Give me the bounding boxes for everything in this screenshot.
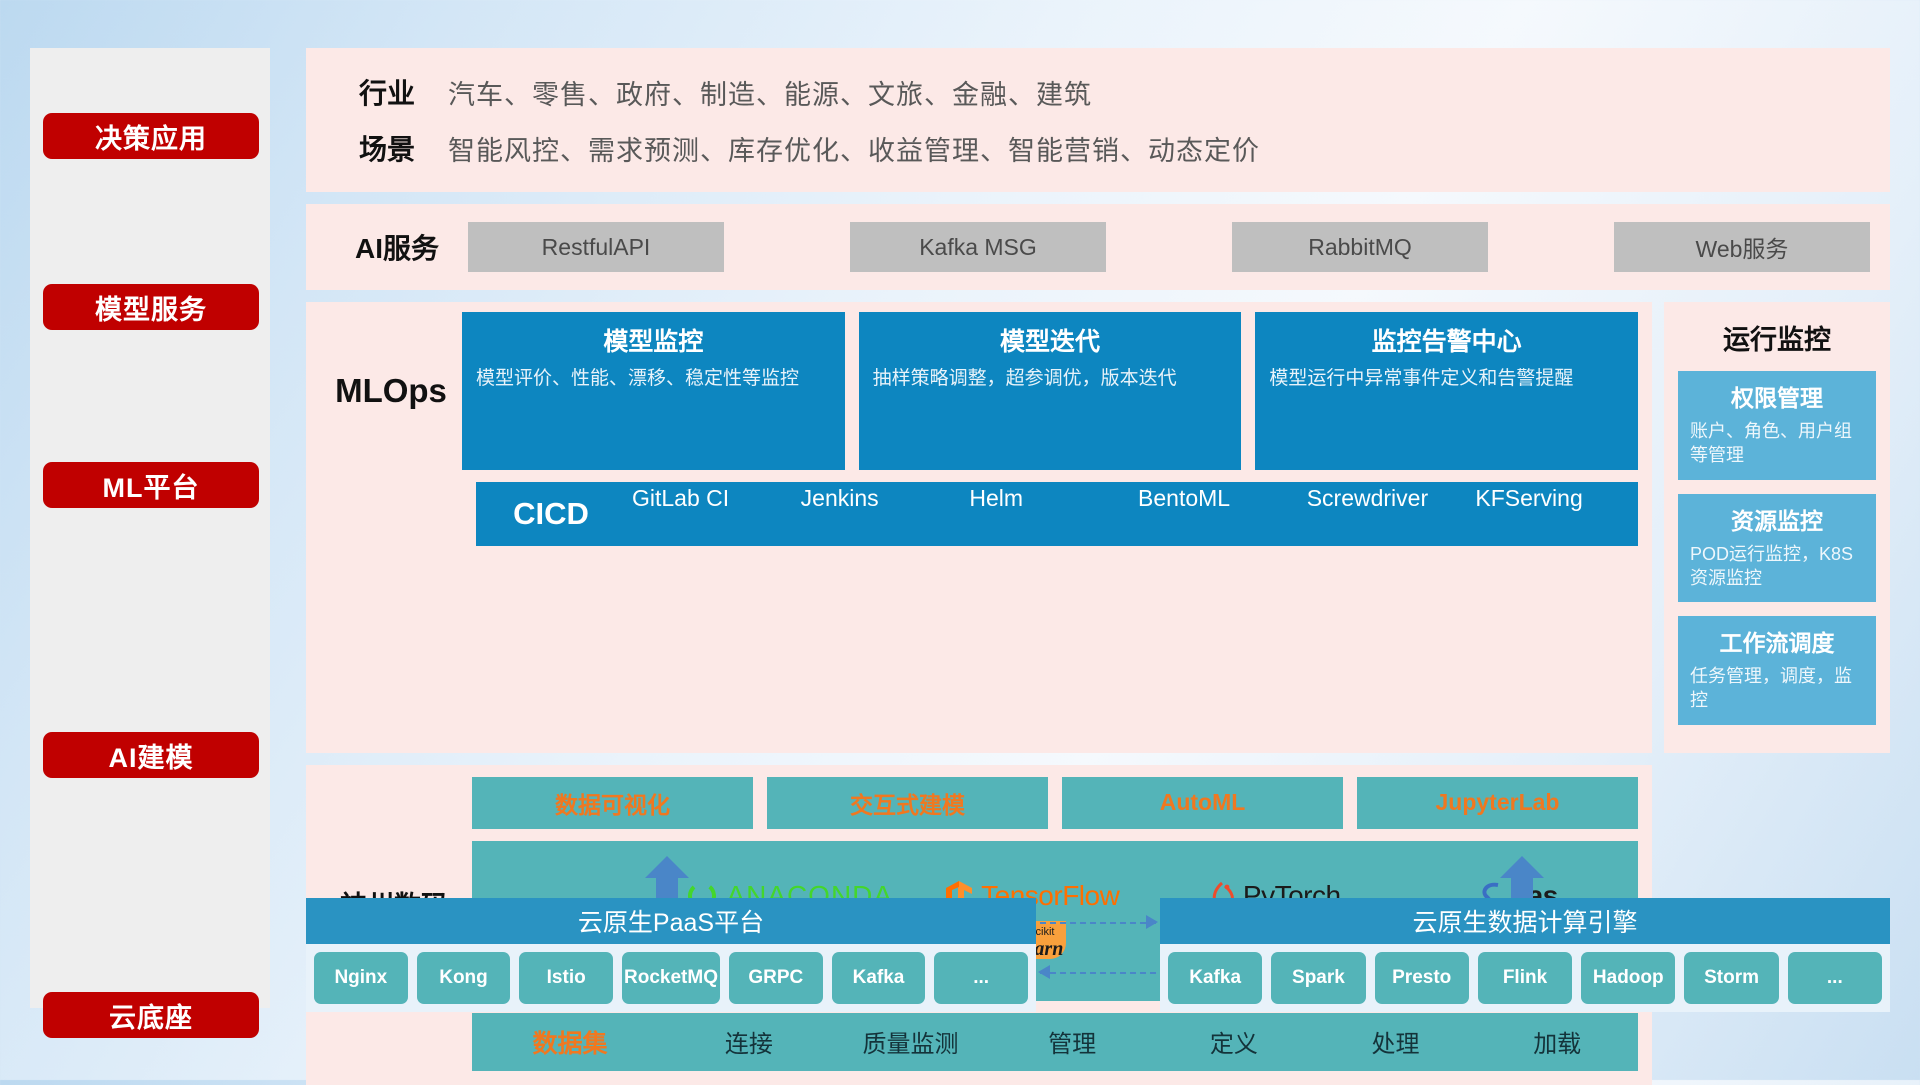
ml-lab-tool-row: 数据可视化 交互式建模 AutoML JupyterLab — [472, 777, 1638, 829]
mlops-label: MLOps — [320, 312, 462, 470]
cicd-title: CICD — [476, 496, 626, 532]
stage-chip-ml-platform[interactable]: ML平台 — [43, 462, 259, 508]
paas-platform-title: 云原生PaaS平台 — [306, 898, 1036, 944]
stage-label: 决策应用 — [95, 117, 207, 156]
monitor-card-workflow[interactable]: 工作流调度 任务管理，调度，监控 — [1678, 616, 1876, 725]
dashed-arrow-left-icon — [1038, 965, 1050, 979]
dashed-arrow-right-icon — [1146, 915, 1158, 929]
dataset-item-define[interactable]: 定义 — [1153, 1024, 1315, 1059]
mlops-card-model-monitoring[interactable]: 模型监控 模型评价、性能、漂移、稳定性等监控 — [462, 312, 845, 470]
dataset-row: 数据集 连接 质量监测 管理 定义 处理 加载 — [472, 1013, 1638, 1071]
engine-chip-hadoop[interactable]: Hadoop — [1581, 952, 1675, 1004]
engine-chip-flink[interactable]: Flink — [1478, 952, 1572, 1004]
card-desc: POD运行监控，K8S资源监控 — [1690, 542, 1864, 591]
paas-platform-block: 云原生PaaS平台 Nginx Kong Istio RocketMQ GRPC… — [306, 898, 1036, 1012]
data-engine-title: 云原生数据计算引擎 — [1160, 898, 1890, 944]
paas-chip-kafka[interactable]: Kafka — [832, 952, 926, 1004]
dataset-item-manage[interactable]: 管理 — [991, 1024, 1153, 1059]
mlops-card-model-iteration[interactable]: 模型迭代 抽样策略调整，超参调优，版本迭代 — [859, 312, 1242, 470]
dataset-item-process[interactable]: 处理 — [1315, 1024, 1477, 1059]
scenario-value: 智能风控、需求预测、库存优化、收益管理、智能营销、动态定价 — [448, 129, 1260, 168]
stage-chip-model-service[interactable]: 模型服务 — [43, 284, 259, 330]
service-button-restfulapi[interactable]: RestfulAPI — [468, 222, 724, 272]
card-desc: 抽样策略调整，超参调优，版本迭代 — [873, 366, 1228, 391]
engine-chip-spark[interactable]: Spark — [1271, 952, 1365, 1004]
card-title: 权限管理 — [1690, 379, 1864, 413]
engine-chip-presto[interactable]: Presto — [1375, 952, 1469, 1004]
tool-chip-data-visualization[interactable]: 数据可视化 — [472, 777, 753, 829]
engine-chip-storm[interactable]: Storm — [1684, 952, 1778, 1004]
dataset-label: 数据集 — [472, 1024, 668, 1060]
card-title: 工作流调度 — [1690, 624, 1864, 658]
bidirectional-link — [1036, 898, 1160, 1012]
monitor-card-resource[interactable]: 资源监控 POD运行监控，K8S资源监控 — [1678, 494, 1876, 603]
mlops-card-alert-center[interactable]: 监控告警中心 模型运行中异常事件定义和告警提醒 — [1255, 312, 1638, 470]
cicd-bar: CICD GitLab CI Jenkins Helm BentoML Scre… — [476, 482, 1638, 546]
cicd-item-jenkins[interactable]: Jenkins — [795, 482, 964, 546]
stage-label: 云底座 — [109, 996, 193, 1035]
paas-chip-istio[interactable]: Istio — [519, 952, 613, 1004]
dashed-line-right — [1040, 922, 1156, 924]
stage-label: AI建模 — [109, 736, 194, 775]
ai-service-band: AI服务 RestfulAPI Kafka MSG RabbitMQ Web服务 — [306, 204, 1890, 290]
paas-chip-grpc[interactable]: GRPC — [729, 952, 823, 1004]
scenario-row: 场景 智能风控、需求预测、库存优化、收益管理、智能营销、动态定价 — [306, 120, 1890, 176]
card-desc: 任务管理，调度，监控 — [1690, 664, 1864, 713]
stage-chip-cloud-base[interactable]: 云底座 — [43, 992, 259, 1038]
service-button-web[interactable]: Web服务 — [1614, 222, 1870, 272]
card-desc: 模型评价、性能、漂移、稳定性等监控 — [476, 366, 831, 391]
data-engine-chips: Kafka Spark Presto Flink Hadoop Storm ..… — [1160, 944, 1890, 1012]
card-title: 模型迭代 — [873, 322, 1228, 358]
stage-rail: 决策应用 模型服务 ML平台 AI建模 云底座 — [30, 48, 270, 1008]
service-button-kafka-msg[interactable]: Kafka MSG — [850, 222, 1106, 272]
card-title: 模型监控 — [476, 322, 831, 358]
dataset-item-load[interactable]: 加载 — [1476, 1024, 1638, 1059]
industry-key: 行业 — [326, 72, 448, 112]
monitoring-title: 运行监控 — [1678, 318, 1876, 357]
mlops-band: MLOps 模型监控 模型评价、性能、漂移、稳定性等监控 模型迭代 抽样策略调整… — [306, 302, 1652, 753]
cloud-base-row: 云原生PaaS平台 Nginx Kong Istio RocketMQ GRPC… — [306, 898, 1890, 1012]
card-desc: 模型运行中异常事件定义和告警提醒 — [1269, 366, 1624, 391]
stage-label: ML平台 — [103, 466, 200, 505]
dataset-item-quality-monitor[interactable]: 质量监测 — [830, 1024, 992, 1059]
arrow-up-data-engine — [1500, 856, 1544, 902]
card-title: 资源监控 — [1690, 502, 1864, 536]
engine-chip-kafka[interactable]: Kafka — [1168, 952, 1262, 1004]
scenario-key: 场景 — [326, 128, 448, 168]
tool-chip-interactive-modeling[interactable]: 交互式建模 — [767, 777, 1048, 829]
monitor-card-permission[interactable]: 权限管理 账户、角色、用户组等管理 — [1678, 371, 1876, 480]
tool-chip-jupyterlab[interactable]: JupyterLab — [1357, 777, 1638, 829]
stage-chip-decision-app[interactable]: 决策应用 — [43, 113, 259, 159]
engine-chip-more[interactable]: ... — [1788, 952, 1882, 1004]
stage-chip-ai-modeling[interactable]: AI建模 — [43, 732, 259, 778]
card-title: 监控告警中心 — [1269, 322, 1624, 358]
tool-chip-automl[interactable]: AutoML — [1062, 777, 1343, 829]
ai-service-label: AI服务 — [326, 227, 468, 267]
card-desc: 账户、角色、用户组等管理 — [1690, 419, 1864, 468]
cicd-item-helm[interactable]: Helm — [963, 482, 1132, 546]
cicd-item-kfserving[interactable]: KFServing — [1469, 482, 1638, 546]
stage-label: 模型服务 — [95, 288, 207, 327]
ai-service-buttons: RestfulAPI Kafka MSG RabbitMQ Web服务 — [468, 222, 1890, 272]
paas-chip-rocketmq[interactable]: RocketMQ — [622, 952, 720, 1004]
cicd-item-bentoml[interactable]: BentoML — [1132, 482, 1301, 546]
service-button-rabbitmq[interactable]: RabbitMQ — [1232, 222, 1488, 272]
application-layer-band: 行业 汽车、零售、政府、制造、能源、文旅、金融、建筑 场景 智能风控、需求预测、… — [306, 48, 1890, 192]
monitoring-band: 运行监控 权限管理 账户、角色、用户组等管理 资源监控 POD运行监控，K8S资… — [1664, 302, 1890, 753]
paas-chip-kong[interactable]: Kong — [417, 952, 511, 1004]
cicd-item-screwdriver[interactable]: Screwdriver — [1301, 482, 1470, 546]
dashed-line-left — [1040, 972, 1156, 974]
paas-platform-chips: Nginx Kong Istio RocketMQ GRPC Kafka ... — [306, 944, 1036, 1012]
paas-chip-more[interactable]: ... — [934, 952, 1028, 1004]
industry-value: 汽车、零售、政府、制造、能源、文旅、金融、建筑 — [448, 73, 1092, 112]
cicd-item-gitlab-ci[interactable]: GitLab CI — [626, 482, 795, 546]
industry-row: 行业 汽车、零售、政府、制造、能源、文旅、金融、建筑 — [306, 64, 1890, 120]
data-engine-block: 云原生数据计算引擎 Kafka Spark Presto Flink Hadoo… — [1160, 898, 1890, 1012]
arrow-up-paas — [645, 856, 689, 902]
architecture-diagram: 决策应用 模型服务 ML平台 AI建模 云底座 行业 汽车、零售、政府、制造、能… — [0, 0, 1920, 1080]
mlops-and-monitoring: MLOps 模型监控 模型评价、性能、漂移、稳定性等监控 模型迭代 抽样策略调整… — [306, 302, 1890, 753]
dataset-item-connect[interactable]: 连接 — [668, 1024, 830, 1059]
paas-chip-nginx[interactable]: Nginx — [314, 952, 408, 1004]
